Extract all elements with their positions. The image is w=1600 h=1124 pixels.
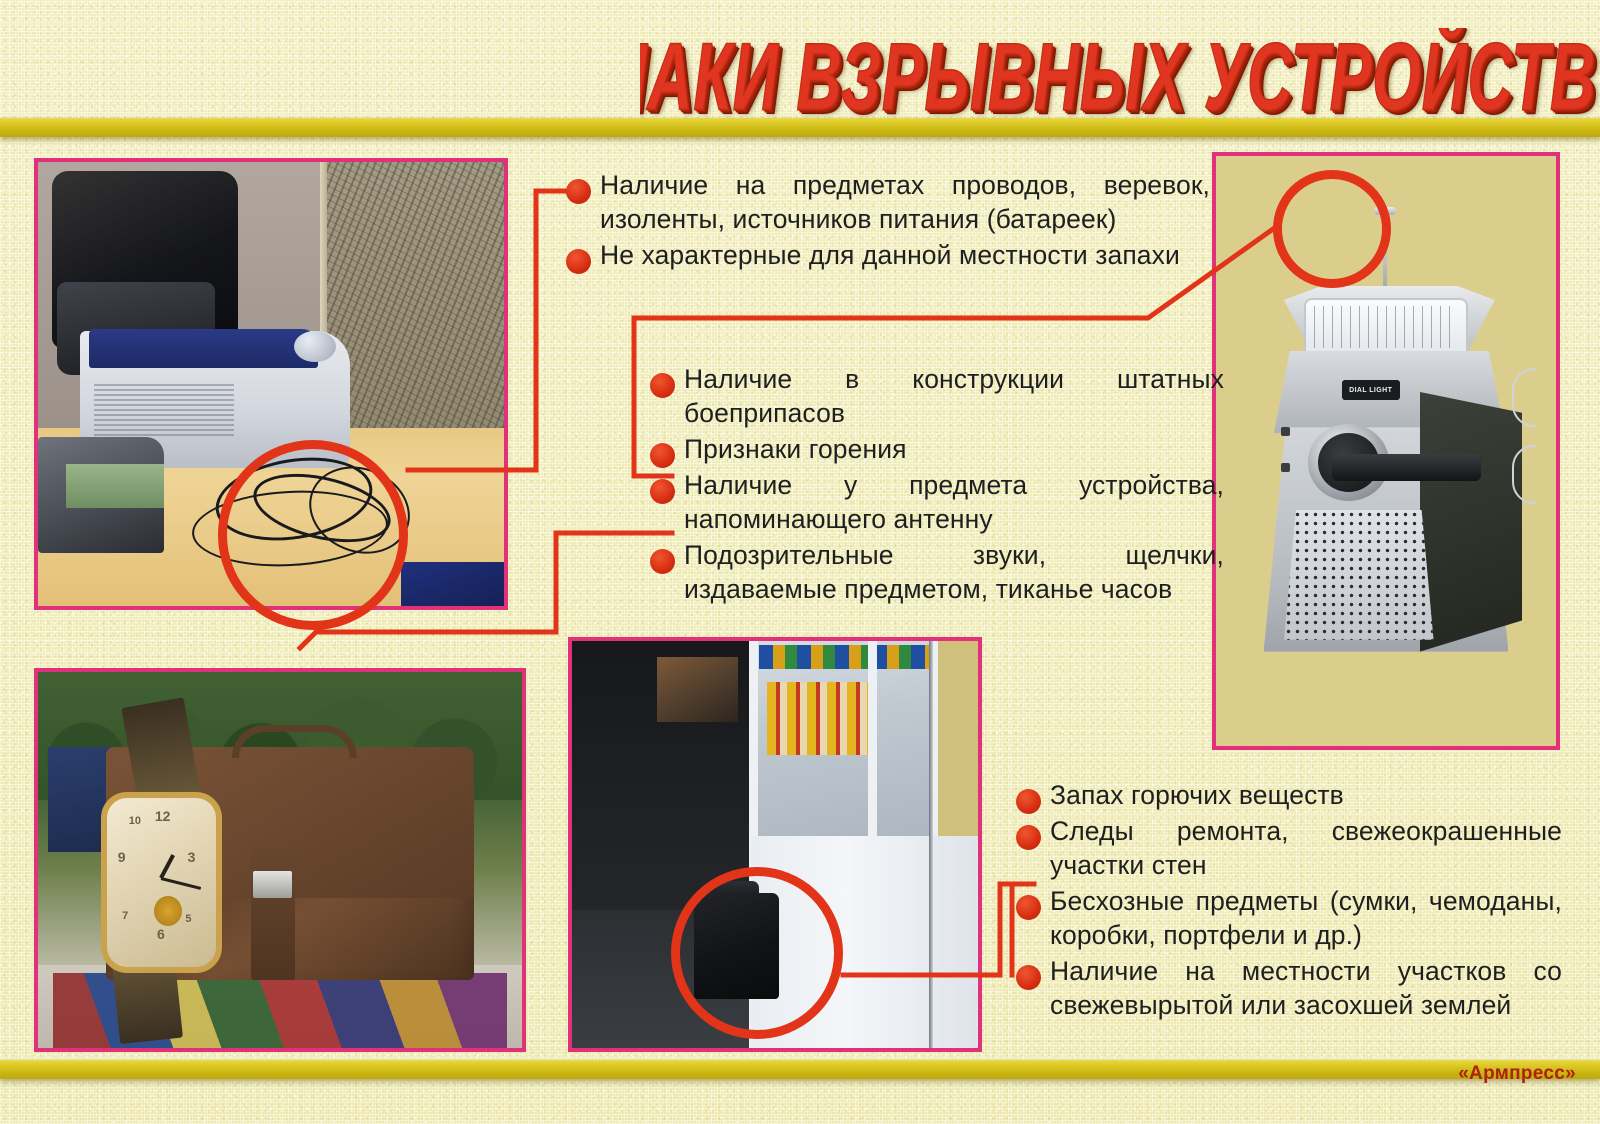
page-title: ПРИЗНАКИ ВЗРЫВНЫХ УСТРОЙСТВ: [640, 30, 1596, 126]
bullet-item: Не характерные для данной местности запа…: [558, 238, 1212, 272]
radio-tuning-dial: [1304, 298, 1467, 357]
radio-indicator-led: [1281, 427, 1290, 436]
briefcase-handle: [232, 725, 358, 759]
bullet-item: Наличие у предмета устройства, напоминаю…: [642, 468, 1222, 536]
bullet-label: Не характерные для данной местности запа…: [600, 238, 1210, 272]
dial-num-12: 12: [155, 808, 171, 824]
gold-band-bottom: [0, 1060, 1600, 1079]
radio-battery-button: [1281, 463, 1290, 472]
bullet-label: Следы ремонта, свежеокрашенные участки с…: [1050, 814, 1562, 882]
radio-speaker-grille: [1284, 510, 1434, 640]
boombox-scene: [38, 162, 504, 606]
bullet-label: Наличие на предметах проводов, веревок, …: [600, 168, 1210, 236]
dial-scale-marks: [1314, 306, 1458, 349]
dial-num-6: 6: [157, 926, 165, 942]
abandoned-black-case: [694, 893, 779, 999]
bullet-item: Наличие на местности участков со свежевы…: [1008, 954, 1568, 1022]
bullet-label: Наличие в конструкции штатных боеприпасо…: [684, 362, 1224, 430]
bullet-dot-icon: [650, 373, 675, 398]
bullet-label: Бесхозные предметы (сумки, чемоданы, кор…: [1050, 884, 1562, 952]
door-edge: [929, 641, 933, 1048]
white-door-panel: [751, 836, 978, 1048]
dial-num-3: 3: [188, 849, 196, 865]
ceiling-banner: [759, 645, 930, 669]
bullet-dot-icon: [1016, 789, 1041, 814]
poster-canvas: ПРИЗНАКИ ВЗРЫВНЫХ УСТРОЙСТВ: [0, 0, 1600, 1124]
bullet-item: Наличие в конструкции штатных боеприпасо…: [642, 362, 1222, 430]
bullet-dot-icon: [650, 479, 675, 504]
bullet-dot-icon: [1016, 965, 1041, 990]
watch-minute-hand: [161, 878, 202, 891]
bullet-label: Признаки горения: [684, 432, 1224, 466]
shop-scene: [572, 641, 978, 1048]
bullet-label: Запах горючих веществ: [1050, 778, 1562, 812]
bullet-dot-icon: [650, 549, 675, 574]
text-block-2: Наличие в конструкции штатных боеприпасо…: [642, 362, 1222, 608]
dial-num-10: 10: [129, 815, 141, 827]
bullet-label: Наличие на местности участков со свежевы…: [1050, 954, 1562, 1022]
dial-num-9: 9: [118, 849, 126, 865]
text-block-1: Наличие на предметах проводов, веревок, …: [558, 168, 1212, 274]
green-book: [66, 464, 164, 508]
bullet-item: Запах горючих веществ: [1008, 778, 1568, 812]
photo-watch-briefcase: 12 3 6 9 10 7 5: [34, 668, 526, 1052]
bullet-item: Наличие на предметах проводов, веревок, …: [558, 168, 1212, 236]
dial-light-text: DIAL LIGHT: [1349, 387, 1392, 394]
dial-light-label: DIAL LIGHT: [1342, 380, 1400, 400]
watch-scene: 12 3 6 9 10 7 5: [38, 672, 522, 1048]
wristwatch-dial: 12 3 6 9 10 7 5: [101, 792, 222, 972]
dial-num-7: 7: [122, 910, 128, 922]
text-block-3: Запах горючих веществ Следы ремонта, све…: [1008, 778, 1568, 1024]
radio-dark-side: [1420, 392, 1522, 652]
radio-handle-lever: [1332, 454, 1482, 481]
photo-radio-antenna: DIAL LIGHT: [1212, 152, 1560, 750]
shelf-products: [767, 682, 873, 755]
boombox-lid: [89, 329, 317, 369]
photo-boombox-wires: [34, 158, 508, 610]
radio-scene: DIAL LIGHT: [1216, 156, 1556, 746]
antenna-rod: [1383, 212, 1387, 295]
boombox-knob: [294, 331, 336, 362]
publisher-logo: «Армпресс»: [1458, 1063, 1576, 1085]
briefcase-strap: [251, 837, 295, 980]
dial-num-5: 5: [185, 913, 191, 925]
bullet-dot-icon: [566, 179, 591, 204]
briefcase-buckle: [253, 871, 292, 897]
boombox-vents: [94, 384, 234, 437]
blue-folder: [401, 562, 504, 606]
bullet-dot-icon: [1016, 895, 1041, 920]
title-container: ПРИЗНАКИ ВЗРЫВНЫХ УСТРОЙСТВ: [640, 28, 1600, 128]
bullet-item: Признаки горения: [642, 432, 1222, 466]
bullet-item: Бесхозные предметы (сумки, чемоданы, кор…: [1008, 884, 1568, 952]
watch-hour-hand: [160, 854, 176, 879]
bullet-label: Подозрительные звуки, щелчки, издаваемые…: [684, 538, 1224, 606]
bullet-item: Подозрительные звуки, щелчки, издаваемые…: [642, 538, 1222, 606]
bullet-dot-icon: [1016, 825, 1041, 850]
bullet-label: Наличие у предмета устройства, напоминаю…: [684, 468, 1224, 536]
bullet-item: Следы ремонта, свежеокрашенные участки с…: [1008, 814, 1568, 882]
bullet-dot-icon: [650, 443, 675, 468]
watch-balance-wheel: [154, 896, 182, 926]
photo-abandoned-case: [568, 637, 982, 1052]
bullet-dot-icon: [566, 249, 591, 274]
wall-poster: [657, 657, 738, 722]
